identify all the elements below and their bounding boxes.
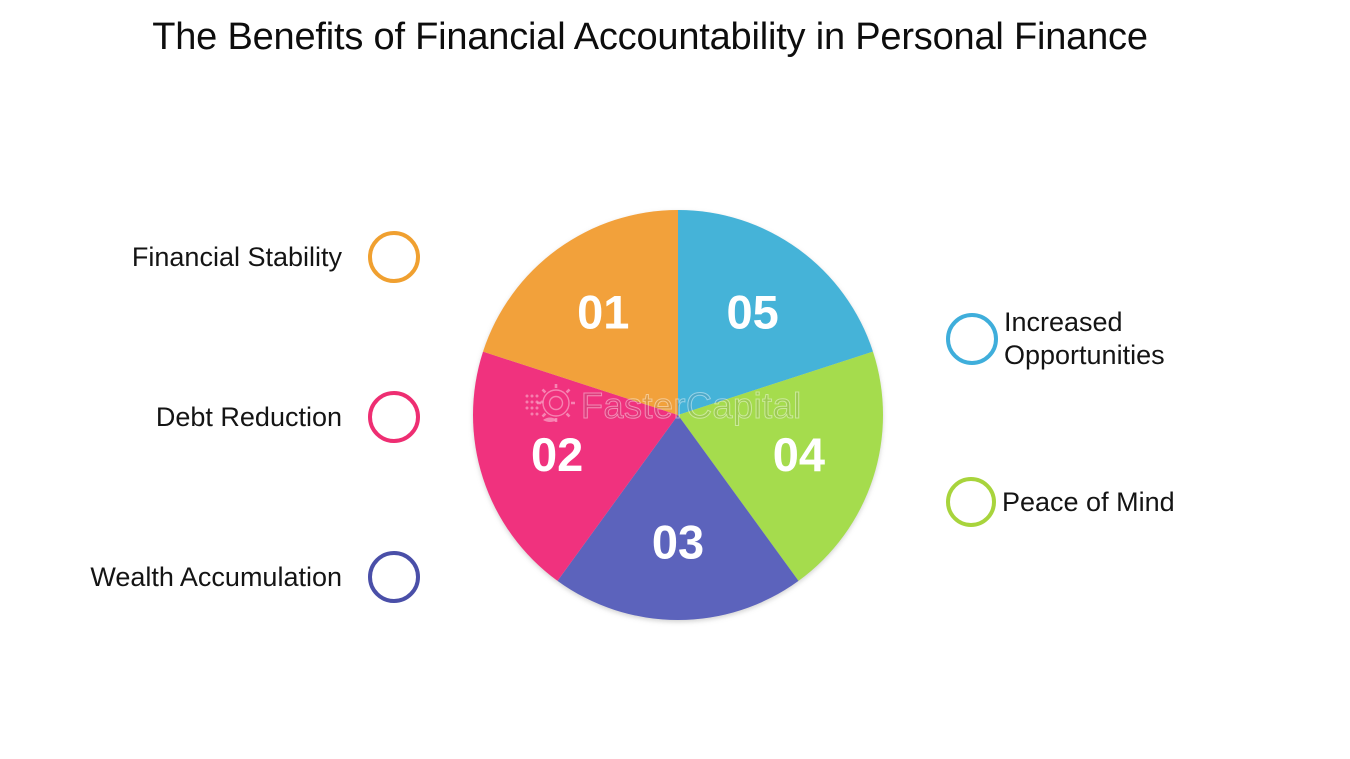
legend-label-debt-reduction: Debt Reduction (156, 401, 342, 434)
pie-slice-label-01: 01 (577, 286, 629, 339)
pie-slice-label-03: 03 (652, 516, 704, 569)
legend-ring-icon-increased-opportunities (946, 313, 998, 365)
legend-ring-icon-peace-of-mind (946, 477, 996, 527)
legend-item-wealth-accumulation[interactable]: Wealth Accumulation (0, 551, 420, 603)
pie-slice-label-04: 04 (773, 428, 825, 481)
legend-label-increased-opportunities: Increased Opportunities (1004, 306, 1165, 372)
legend-item-peace-of-mind[interactable]: Peace of Mind (946, 477, 1346, 527)
legend-ring-icon-debt-reduction (368, 391, 420, 443)
infographic-canvas: The Benefits of Financial Accountability… (0, 0, 1350, 759)
page-title: The Benefits of Financial Accountability… (0, 14, 1300, 62)
legend-label-financial-stability: Financial Stability (132, 241, 342, 274)
pie-slice-label-02: 02 (531, 428, 583, 481)
legend-ring-icon-financial-stability (368, 231, 420, 283)
legend-item-debt-reduction[interactable]: Debt Reduction (0, 391, 420, 443)
pie-chart-svg: 0504030201 (470, 207, 886, 623)
legend-label-wealth-accumulation: Wealth Accumulation (90, 561, 342, 594)
legend-item-increased-opportunities[interactable]: Increased Opportunities (946, 306, 1346, 372)
legend-item-financial-stability[interactable]: Financial Stability (0, 231, 420, 283)
legend-ring-icon-wealth-accumulation (368, 551, 420, 603)
pie-slice-label-05: 05 (727, 286, 779, 339)
legend-label-peace-of-mind: Peace of Mind (1002, 486, 1175, 519)
pie-chart: 0504030201 (470, 207, 886, 623)
